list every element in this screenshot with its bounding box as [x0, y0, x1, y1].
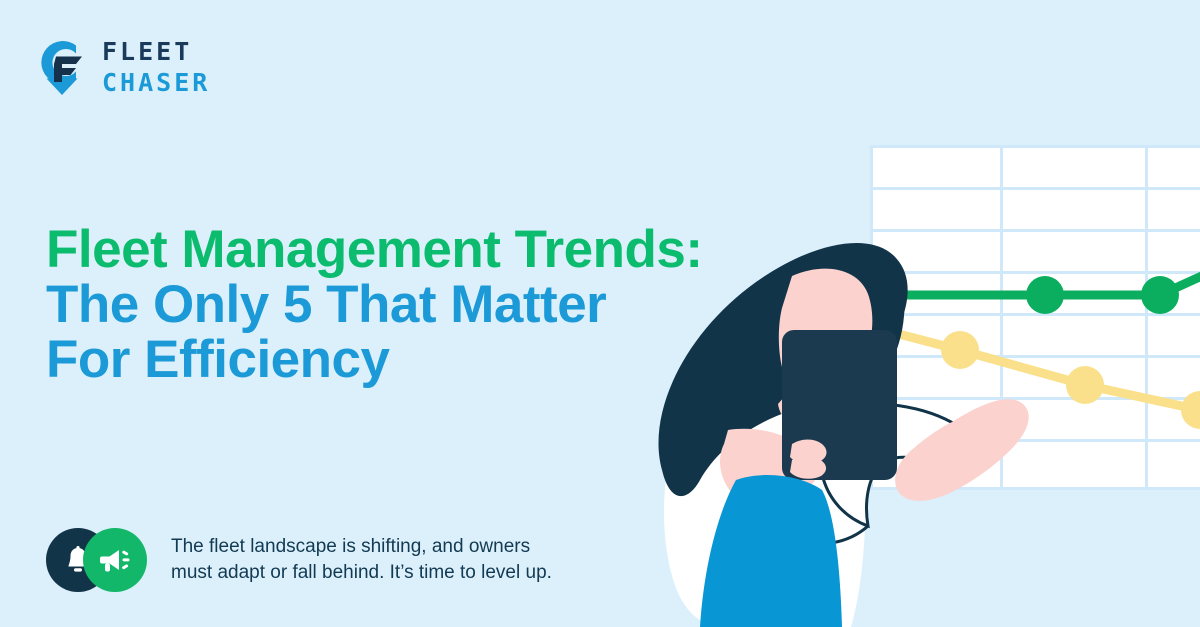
- footer-icon-group: [46, 528, 146, 592]
- megaphone-icon-circle: [83, 528, 147, 592]
- series-marker-costs: [1181, 391, 1200, 429]
- footer-tagline: The fleet landscape is shifting, and own…: [46, 528, 552, 592]
- headline-line-2: The Only 5 That Matter: [46, 277, 746, 332]
- location-pin-f-icon: [32, 33, 92, 99]
- brand-wordmark: FLEET CHASER: [102, 37, 210, 95]
- footer-text-line-2: must adapt or fall behind. It’s time to …: [171, 560, 552, 586]
- brand-logo[interactable]: FLEET CHASER: [32, 33, 210, 99]
- footer-text: The fleet landscape is shifting, and own…: [171, 534, 552, 586]
- brand-name-top: FLEET: [102, 39, 210, 64]
- footer-text-line-1: The fleet landscape is shifting, and own…: [171, 534, 552, 560]
- brand-name-bottom: CHASER: [102, 70, 210, 95]
- series-marker-efficiency: [1141, 276, 1179, 314]
- megaphone-icon: [99, 546, 131, 574]
- headline-line-1: Fleet Management Trends:: [46, 222, 746, 277]
- page-title: Fleet Management Trends: The Only 5 That…: [46, 222, 746, 387]
- headline-line-3: For Efficiency: [46, 332, 746, 387]
- series-marker-costs: [1066, 366, 1104, 404]
- banner-root: FLEET CHASER: [0, 0, 1200, 627]
